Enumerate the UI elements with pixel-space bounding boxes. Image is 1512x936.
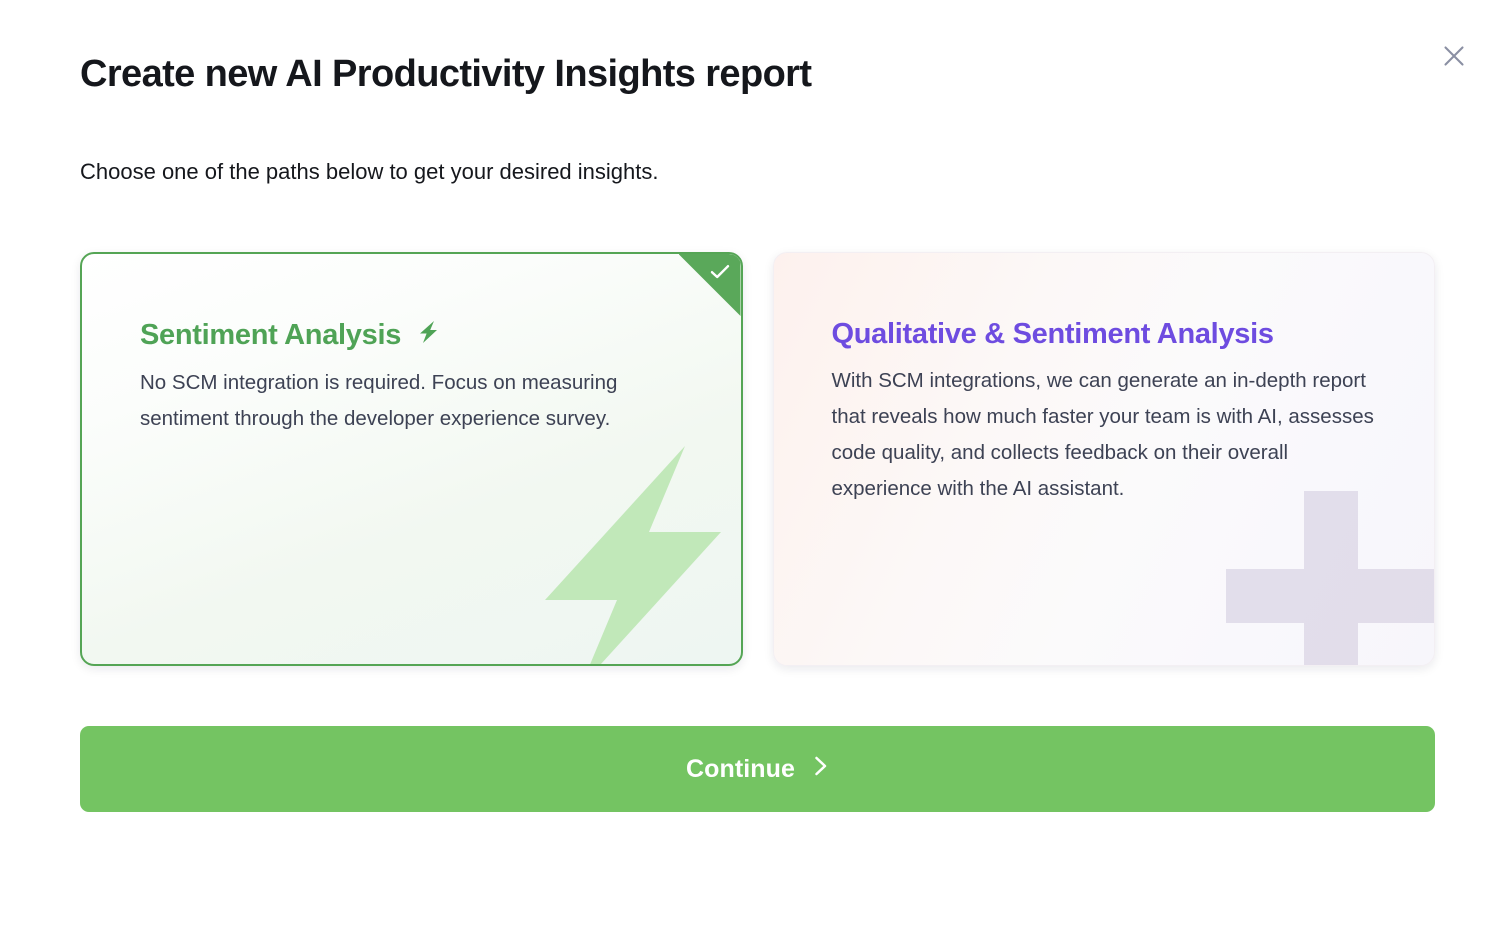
card-title: Sentiment Analysis (140, 316, 699, 356)
close-icon (1440, 42, 1468, 70)
path-card-qualitative-sentiment-analysis[interactable]: Qualitative & Sentiment Analysis With SC… (773, 252, 1436, 666)
lightning-bolt-icon (417, 317, 439, 356)
path-card-list: Sentiment Analysis No SCM integration is… (80, 252, 1435, 666)
card-title-text: Sentiment Analysis (140, 319, 401, 351)
card-description: No SCM integration is required. Focus on… (140, 365, 699, 437)
page-title: Create new AI Productivity Insights repo… (80, 52, 811, 98)
card-description: With SCM integrations, we can generate a… (832, 363, 1377, 507)
page-subtitle: Choose one of the paths below to get you… (80, 157, 658, 187)
continue-button[interactable]: Continue (80, 726, 1435, 812)
lightning-bolt-watermark-icon (509, 428, 743, 666)
plus-watermark-icon (1226, 491, 1435, 666)
path-card-sentiment-analysis[interactable]: Sentiment Analysis No SCM integration is… (80, 252, 743, 666)
close-button[interactable] (1434, 36, 1474, 76)
create-report-dialog: Create new AI Productivity Insights repo… (0, 0, 1512, 936)
continue-button-label: Continue (686, 755, 795, 784)
card-content: Qualitative & Sentiment Analysis With SC… (774, 253, 1435, 507)
card-content: Sentiment Analysis No SCM integration is… (82, 254, 741, 437)
chevron-right-icon (813, 754, 829, 785)
card-title: Qualitative & Sentiment Analysis (832, 315, 1393, 354)
